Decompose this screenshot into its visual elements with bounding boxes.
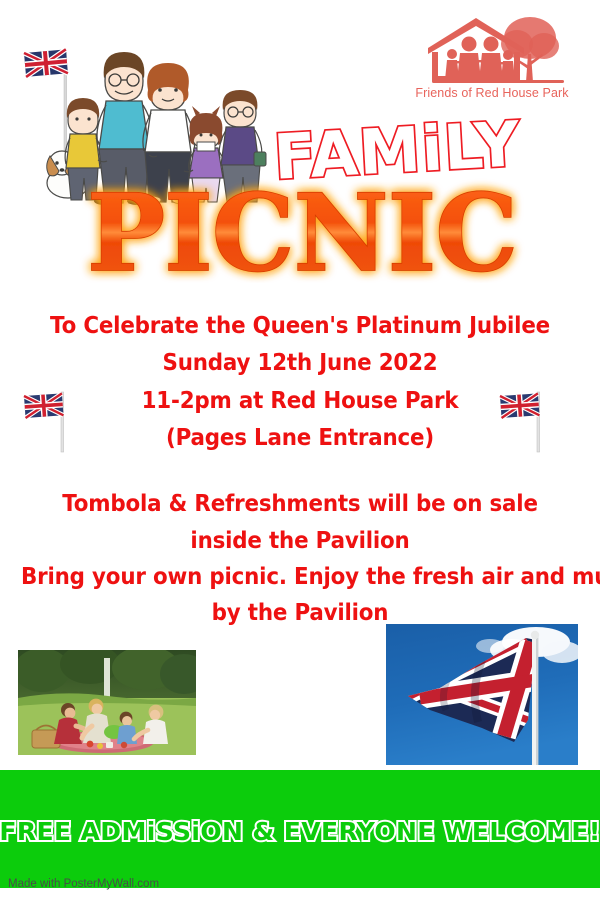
- body-line-5: Tombola & Refreshments will be on sale: [21, 491, 579, 517]
- union-jack-flag-icon: [492, 388, 552, 454]
- title-picnic: PICNIC: [72, 178, 532, 283]
- family-picnic-photo: [18, 650, 196, 755]
- svg-text:PICNIC: PICNIC: [87, 178, 517, 283]
- poster-canvas: Friends of Red House Park FAMiLY: [0, 0, 600, 900]
- logo-caption: Friends of Red House Park: [408, 86, 576, 100]
- svg-text:FREE ADMiSSiON & EVERYONE WELC: FREE ADMiSSiON & EVERYONE WELCOME!: [0, 817, 600, 846]
- free-admission-banner: FREE ADMiSSiON & EVERYONE WELCOME!: [0, 770, 600, 888]
- friends-of-red-house-park-logo: Friends of Red House Park: [408, 16, 576, 108]
- body-line-8: by the Pavilion: [21, 600, 579, 626]
- body-line-2: Sunday 12th June 2022: [21, 350, 579, 376]
- house-with-family-and-tree-logo: [414, 16, 570, 86]
- postermywall-watermark: Made with PosterMyWall.com: [8, 878, 159, 890]
- union-jack-flag-icon: [16, 388, 76, 454]
- body-line-7: Bring your own picnic. Enjoy the fresh a…: [21, 564, 579, 590]
- body-line-1: To Celebrate the Queen's Platinum Jubile…: [21, 313, 579, 339]
- union-jack-flagpole-photo: [386, 624, 578, 765]
- body-line-6: inside the Pavilion: [21, 528, 579, 554]
- banner-headline: FREE ADMiSSiON & EVERYONE WELCOME!: [0, 814, 600, 848]
